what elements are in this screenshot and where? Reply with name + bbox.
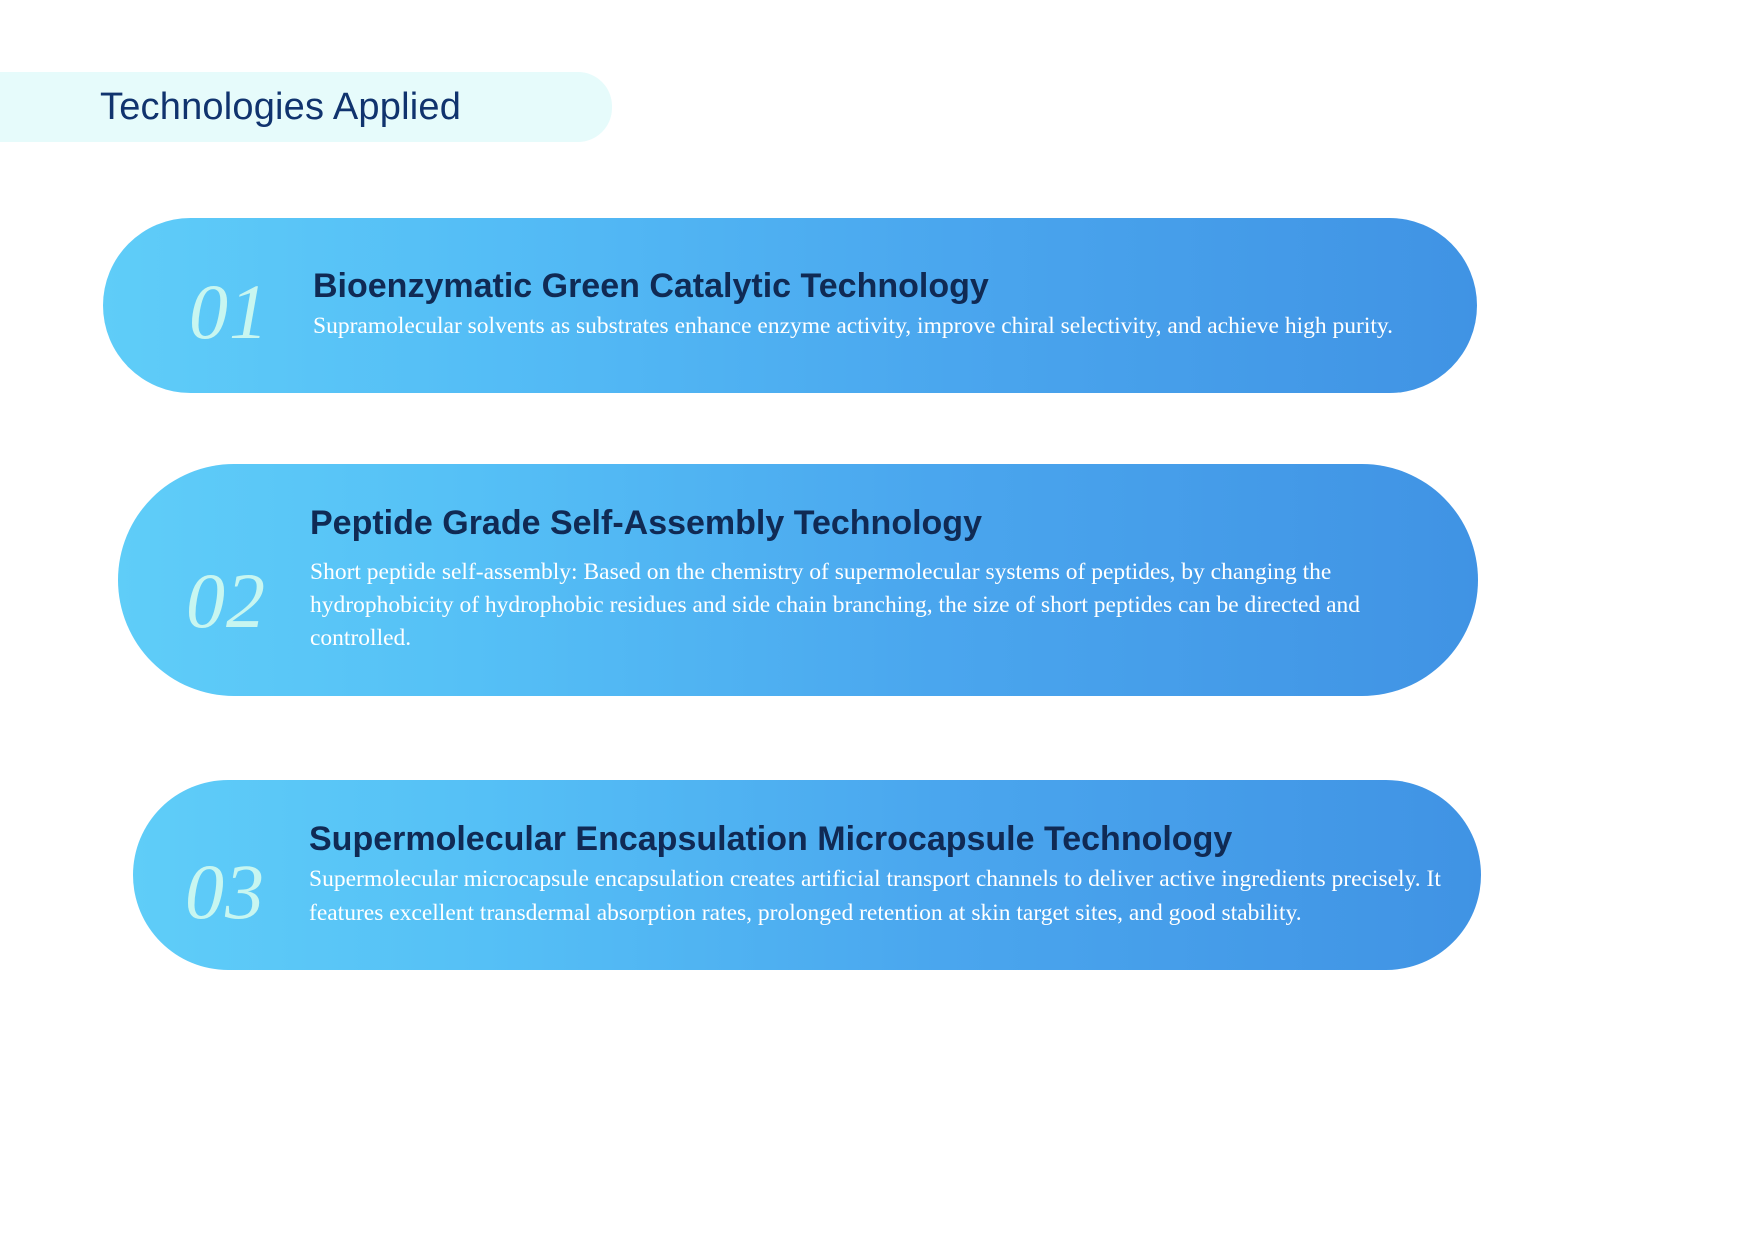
card-number-03: 03 xyxy=(145,853,305,931)
page-title-banner: Technologies Applied xyxy=(0,72,612,142)
technology-card-01: 01 Bioenzymatic Green Catalytic Technolo… xyxy=(103,218,1477,393)
technology-card-03: 03 Supermolecular Encapsulation Microcap… xyxy=(133,780,1481,970)
card-title-01: Bioenzymatic Green Catalytic Technology xyxy=(313,267,1437,306)
page-title: Technologies Applied xyxy=(100,86,461,129)
card-number-01: 01 xyxy=(149,273,309,351)
card-title-03: Supermolecular Encapsulation Microcapsul… xyxy=(309,820,1441,859)
card-description-02: Short peptide self-assembly: Based on th… xyxy=(310,556,1438,656)
technology-card-02: 02 Peptide Grade Self-Assembly Technolog… xyxy=(118,464,1478,696)
card-description-01: Supramolecular solvents as substrates en… xyxy=(313,310,1437,343)
card-description-03: Supermolecular microcapsule encapsulatio… xyxy=(309,863,1441,930)
card-number-02: 02 xyxy=(146,562,306,640)
card-title-02: Peptide Grade Self-Assembly Technology xyxy=(310,504,1438,543)
card-content-02: Peptide Grade Self-Assembly Technology S… xyxy=(310,504,1438,655)
card-content-03: Supermolecular Encapsulation Microcapsul… xyxy=(309,820,1441,930)
card-content-01: Bioenzymatic Green Catalytic Technology … xyxy=(313,267,1437,343)
